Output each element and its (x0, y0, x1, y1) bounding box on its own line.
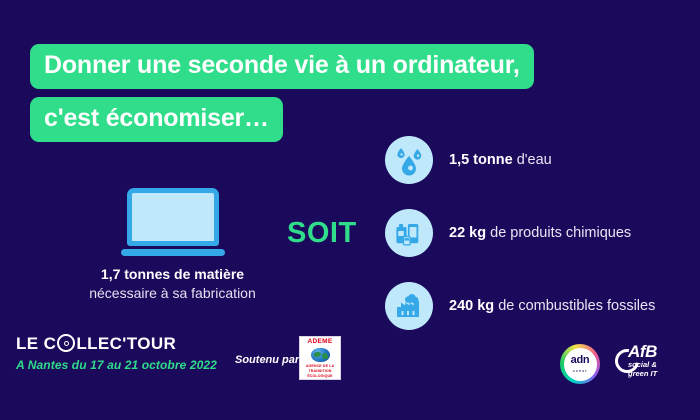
supported-by-label: Soutenu par (235, 354, 299, 366)
factory-icon (385, 282, 433, 330)
stat-label: d'eau (517, 152, 552, 168)
brand-text-suffix: LLEC'TOUR (76, 335, 176, 352)
brand-recycle-o-icon (57, 334, 75, 352)
stat-label: de combustibles fossiles (498, 298, 655, 314)
ademe-title: ADEME (308, 339, 333, 346)
laptop-base (121, 249, 225, 256)
headline: Donner une seconde vie à un ordinateur, … (30, 44, 534, 142)
connector-label: SOIT (287, 217, 357, 250)
adn-subtitle: ouest (573, 368, 588, 373)
brand-wordmark: LE C LLEC'TOUR (16, 334, 217, 352)
adn-name: adn (571, 355, 590, 366)
ademe-logo: ADEME AGENCE DE LA TRANSITION ÉCOLOGIQUE (299, 336, 341, 380)
stat-text: 1,5 tonne d'eau (449, 152, 552, 168)
headline-line-1: Donner une seconde vie à un ordinateur, (30, 44, 534, 89)
headline-line-2: c'est économiser… (30, 97, 283, 142)
stat-row: 1,5 tonne d'eau (385, 136, 655, 184)
afb-logo: AfB social & green IT (615, 343, 657, 379)
stat-row: 22 kg de produits chimiques (385, 209, 655, 257)
laptop-icon (121, 188, 225, 256)
adn-ouest-logo: adn ouest (560, 344, 600, 384)
event-date-line: A Nantes du 17 au 21 octobre 2022 (16, 358, 217, 372)
footer-brand-block: LE C LLEC'TOUR A Nantes du 17 au 21 octo… (16, 334, 217, 372)
stat-value: 240 kg (449, 298, 494, 314)
brand-text-prefix: LE C (16, 335, 56, 352)
chemical-bottles-icon (385, 209, 433, 257)
laptop-caption-detail: nécessaire à sa fabrication (55, 284, 290, 302)
laptop-block: 1,7 tonnes de matière nécessaire à sa fa… (55, 188, 290, 302)
stat-value: 1,5 tonne (449, 152, 513, 168)
stats-list: 1,5 tonne d'eau 22 kg de produits chimiq… (385, 136, 655, 330)
stat-row: 240 kg de combustibles fossiles (385, 282, 655, 330)
stat-text: 22 kg de produits chimiques (449, 225, 631, 241)
globe-icon (311, 348, 330, 363)
stat-label: de produits chimiques (490, 225, 631, 241)
stat-text: 240 kg de combustibles fossiles (449, 298, 655, 314)
adn-logo-inner: adn ouest (564, 348, 597, 381)
water-drops-icon (385, 136, 433, 184)
laptop-caption-value: 1,7 tonnes de matière (55, 266, 290, 284)
ademe-subtitle: AGENCE DE LA TRANSITION ÉCOLOGIQUE (300, 364, 340, 379)
laptop-screen (127, 188, 219, 246)
infographic-canvas: Donner une seconde vie à un ordinateur, … (0, 0, 700, 420)
stat-value: 22 kg (449, 225, 486, 241)
